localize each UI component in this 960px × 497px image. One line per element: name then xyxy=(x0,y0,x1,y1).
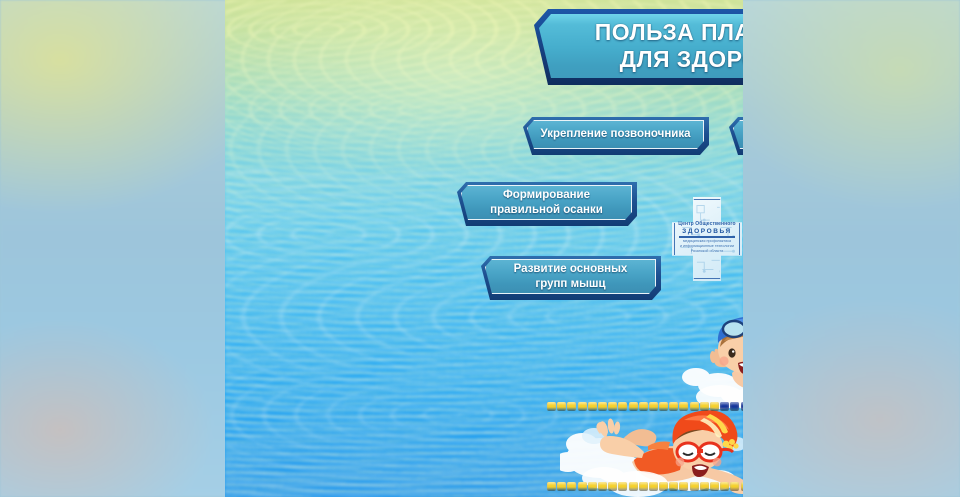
lane-bead xyxy=(547,482,556,491)
page-title: ПОЛЬЗА ПЛАВАНИЯ ДЛЯ ЗДОРОВЬЯ xyxy=(595,19,743,73)
lane-bead xyxy=(608,482,617,491)
benefit-box-muscles-inner: Развитие основных групп мышц xyxy=(485,259,656,294)
lane-bead xyxy=(690,402,699,411)
lane-bead xyxy=(629,482,638,491)
lane-bead xyxy=(629,402,638,411)
lane-bead xyxy=(639,482,648,491)
poster-panel: ПОЛЬЗА ПЛАВАНИЯ ДЛЯ ЗДОРОВЬЯ Укрепление … xyxy=(225,0,743,497)
lane-rope-upper xyxy=(547,402,743,411)
lane-bead xyxy=(730,482,739,491)
lane-bead xyxy=(669,482,678,491)
benefit-label: Повышение иммунитета xyxy=(738,127,743,141)
benefit-box-spine[interactable]: Укрепление позвоночника xyxy=(523,117,709,155)
boy-swimmer xyxy=(680,315,743,410)
lane-bead xyxy=(690,482,699,491)
title-line-1: ПОЛЬЗА ПЛАВАНИЯ xyxy=(595,19,743,46)
lane-bead xyxy=(547,402,556,411)
lane-bead xyxy=(679,482,688,491)
lane-bead xyxy=(578,402,587,411)
lane-bead xyxy=(700,402,709,411)
lane-bead xyxy=(700,482,709,491)
lane-bead xyxy=(618,482,627,491)
organization-logo[interactable]: Центр Общественного ЗДОРОВЬЯ медицинская… xyxy=(672,197,742,281)
benefit-box-spine-inner: Укрепление позвоночника xyxy=(527,120,704,149)
logo-line-2: ЗДОРОВЬЯ xyxy=(673,228,741,235)
title-line-2: ДЛЯ ЗДОРОВЬЯ xyxy=(595,46,743,73)
lane-bead xyxy=(608,402,617,411)
lane-rope-lower xyxy=(547,482,743,491)
benefit-label: Формирование правильной осанки xyxy=(482,188,611,217)
benefit-box-posture-inner: Формирование правильной осанки xyxy=(461,185,632,220)
lane-bead xyxy=(557,402,566,411)
lane-bead xyxy=(598,402,607,411)
lane-bead xyxy=(720,402,729,411)
benefit-label: Развитие основных групп мышц xyxy=(506,262,636,291)
logo-line-3: медицинская профилактика и информационны… xyxy=(673,239,741,254)
logo-line-1: Центр Общественного xyxy=(673,221,741,227)
lane-rope-lower-beads xyxy=(547,482,743,491)
lane-bead xyxy=(741,482,743,491)
lane-bead xyxy=(649,402,658,411)
lane-bead xyxy=(730,402,739,411)
lane-bead xyxy=(588,402,597,411)
lane-bead xyxy=(649,482,658,491)
lane-bead xyxy=(588,482,597,491)
lane-bead xyxy=(679,402,688,411)
lane-bead xyxy=(639,402,648,411)
lane-bead xyxy=(720,482,729,491)
lane-bead xyxy=(578,482,587,491)
poster-title-inner: ПОЛЬЗА ПЛАВАНИЯ ДЛЯ ЗДОРОВЬЯ xyxy=(539,14,743,78)
lane-bead xyxy=(741,402,743,411)
benefit-box-posture[interactable]: Формирование правильной осанки xyxy=(457,182,637,226)
lane-bead xyxy=(659,482,668,491)
lane-bead xyxy=(557,482,566,491)
lane-bead xyxy=(710,402,719,411)
lane-bead xyxy=(710,482,719,491)
lane-bead xyxy=(598,482,607,491)
lane-bead xyxy=(567,402,576,411)
benefit-box-muscles[interactable]: Развитие основных групп мышц xyxy=(481,256,661,300)
logo-text-block: Центр Общественного ЗДОРОВЬЯ медицинская… xyxy=(673,221,741,255)
lane-rope-upper-beads xyxy=(547,402,743,411)
lane-bead xyxy=(618,402,627,411)
lane-bead xyxy=(567,482,576,491)
benefit-label: Укрепление позвоночника xyxy=(533,127,699,141)
poster-canvas: ПОЛЬЗА ПЛАВАНИЯ ДЛЯ ЗДОРОВЬЯ Укрепление … xyxy=(0,0,960,497)
lane-bead xyxy=(669,402,678,411)
logo-divider-bar xyxy=(679,236,735,238)
lane-bead xyxy=(659,402,668,411)
poster-title-banner: ПОЛЬЗА ПЛАВАНИЯ ДЛЯ ЗДОРОВЬЯ xyxy=(534,9,743,85)
